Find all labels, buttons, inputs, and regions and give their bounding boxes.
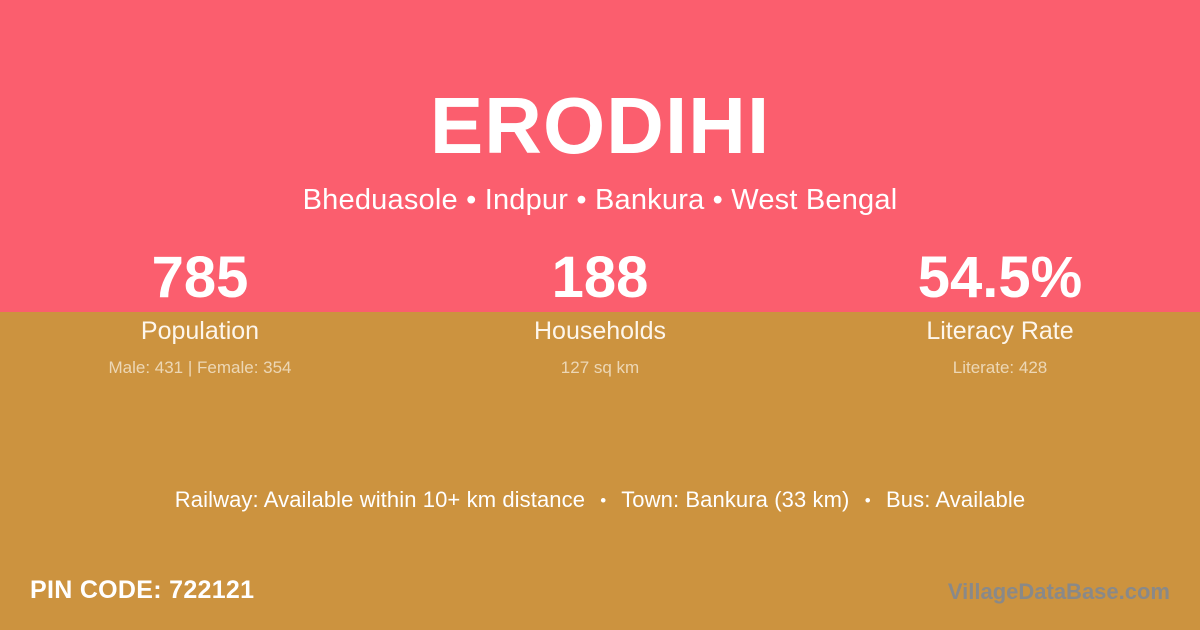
site-logo: VillageDataBase.com [948,578,1170,606]
transport-info: Railway: Available within 10+ km distanc… [0,485,1200,516]
stat-households: 188 Households 127 sq km [400,243,800,378]
stat-literacy-rate-label: Literacy Rate [800,316,1200,347]
stat-population-sub: Male: 431 | Female: 354 [0,357,400,378]
stat-households-label: Households [400,316,800,347]
village-info-card: ERODIHI Bheduasole • Indpur • Bankura • … [0,0,1200,630]
bullet-separator-icon: • [591,486,615,516]
pin-code: PIN CODE: 722121 [30,573,254,607]
stat-population-value: 785 [0,243,400,313]
transport-bus: Bus: Available [886,487,1025,512]
stat-literacy-rate-value: 54.5% [800,243,1200,313]
stats-row: 785 Population Male: 431 | Female: 354 1… [0,243,1200,378]
stat-households-sub: 127 sq km [400,357,800,378]
bullet-separator-icon: • [856,486,880,516]
stat-households-value: 188 [400,243,800,313]
stat-literacy-rate: 54.5% Literacy Rate Literate: 428 [800,243,1200,378]
stat-population-label: Population [0,316,400,347]
stat-population: 785 Population Male: 431 | Female: 354 [0,243,400,378]
transport-town: Town: Bankura (33 km) [621,487,849,512]
page-title: ERODIHI [0,78,1200,174]
stat-literacy-rate-sub: Literate: 428 [800,357,1200,378]
card-footer: PIN CODE: 722121 VillageDataBase.com [0,570,1200,630]
transport-railway: Railway: Available within 10+ km distanc… [175,487,585,512]
breadcrumb: Bheduasole • Indpur • Bankura • West Ben… [0,181,1200,219]
